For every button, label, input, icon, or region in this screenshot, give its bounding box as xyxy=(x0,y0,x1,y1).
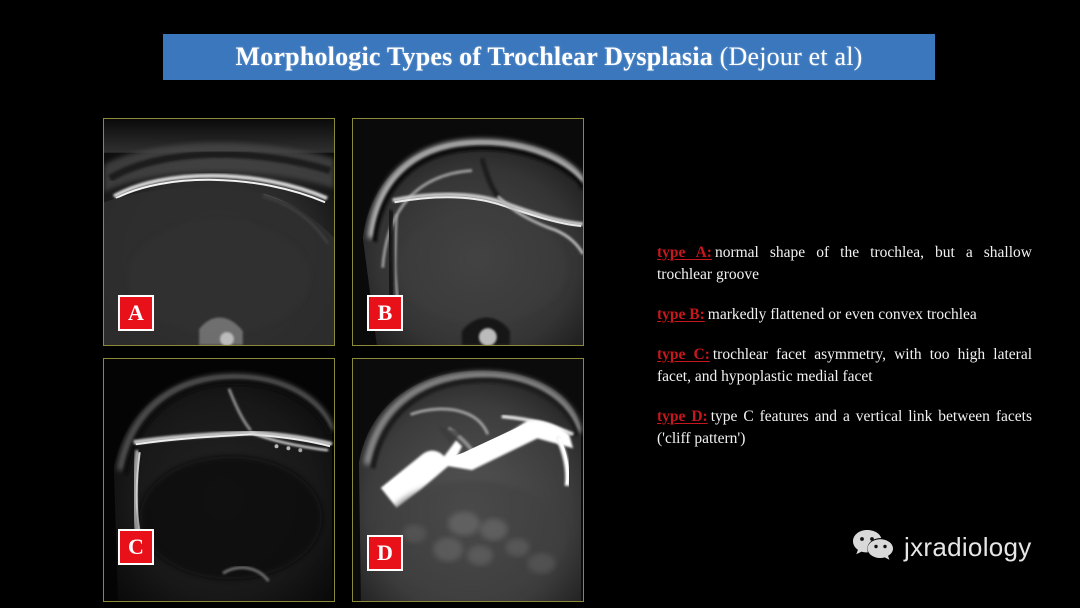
legend-text-type-b: markedly flattened or even convex trochl… xyxy=(708,306,977,323)
legend-label-type-c: type C: xyxy=(657,346,710,363)
legend-text-type-c: trochlear facet asymmetry, with too high… xyxy=(657,346,1032,385)
watermark-label: jxradiology xyxy=(904,532,1032,563)
legend-label-type-a: type A: xyxy=(657,244,712,261)
legend-item-type-d: type D:type C features and a vertical li… xyxy=(657,406,1032,450)
panel-badge-c: C xyxy=(118,529,154,565)
watermark: jxradiology xyxy=(852,528,1032,567)
panel-badge-d: D xyxy=(367,535,403,571)
legend-label-type-b: type B: xyxy=(657,306,705,323)
legend-text-type-d: type C features and a vertical link betw… xyxy=(657,408,1032,447)
legend-text-type-a: normal shape of the trochlea, but a shal… xyxy=(657,244,1032,283)
panel-badge-b: B xyxy=(367,295,403,331)
legend-item-type-b: type B:markedly flattened or even convex… xyxy=(657,304,1032,326)
legend-item-type-c: type C:trochlear facet asymmetry, with t… xyxy=(657,344,1032,388)
mri-panel-d: D xyxy=(352,358,584,602)
mri-panel-a: A xyxy=(103,118,335,346)
page-title: Morphologic Types of Trochlear Dysplasia… xyxy=(235,42,862,72)
page-title-attribution: (Dejour et al) xyxy=(713,42,863,71)
legend-label-type-d: type D: xyxy=(657,408,708,425)
mri-panel-b: B xyxy=(352,118,584,346)
slide-title-bar: Morphologic Types of Trochlear Dysplasia… xyxy=(163,34,935,80)
wechat-icon xyxy=(852,528,894,567)
legend-block: type A:normal shape of the trochlea, but… xyxy=(657,226,1032,450)
page-title-main: Morphologic Types of Trochlear Dysplasia xyxy=(235,42,712,71)
legend-item-type-a: type A:normal shape of the trochlea, but… xyxy=(657,242,1032,286)
panel-badge-a: A xyxy=(118,295,154,331)
mri-panel-c: C xyxy=(103,358,335,602)
